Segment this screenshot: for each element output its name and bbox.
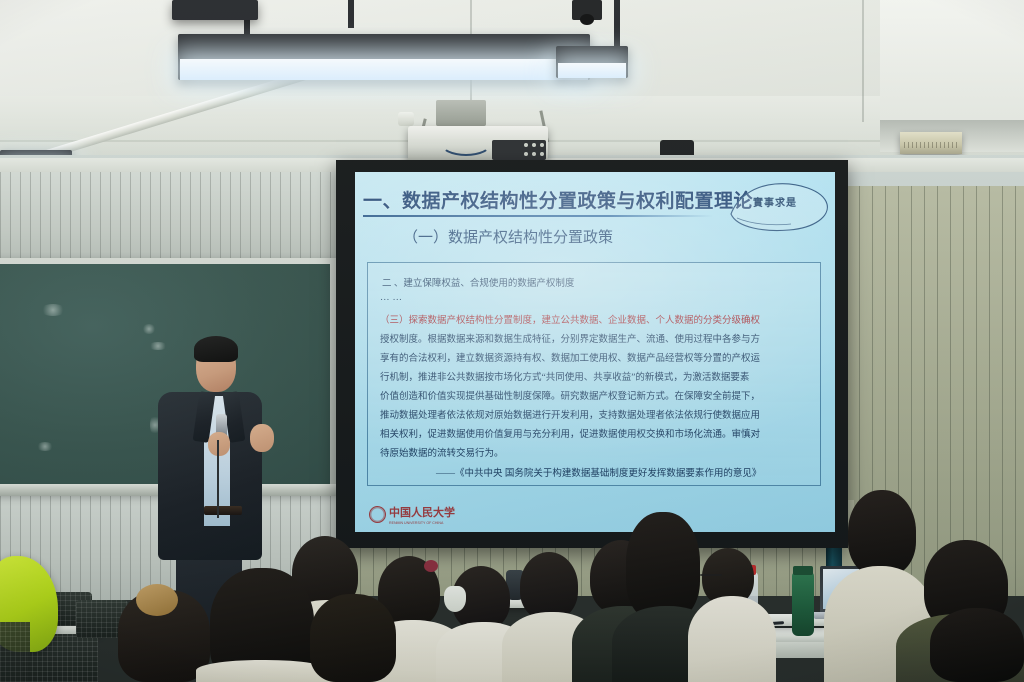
title-underline [363,215,713,217]
textbox-line: 行机制，推进非公共数据按市场化方式“共同使用、共享收益”的新模式，为激活数据要素 [380,369,749,383]
projector-indicator [524,143,528,147]
presenter-hand-left [208,432,230,456]
university-seal-icon [369,506,386,523]
presenter-hair [194,336,238,362]
chalk-smudge [148,342,168,350]
audience-head [310,594,396,682]
chalk-smudge [40,304,66,316]
microphone-cable [217,440,219,518]
bottle-cap-green [793,566,813,575]
chalk-smudge [36,442,54,451]
pipe-joint [398,112,414,126]
slide-textbox: 二 、建立保障权益、合规使用的数据产权制度 …… （三）探索数据产权结构性分置制… [367,262,821,486]
audience-head [930,608,1024,682]
textbox-line: 待原始数据的流转交易行为。 [380,445,504,459]
pendant-stem [614,0,620,48]
pendant-light [172,0,258,20]
face-mask [444,586,466,612]
pendant-stem [348,0,354,28]
hair-scrunchie [424,560,438,572]
lamp-diffuser [180,59,588,80]
textbox-line: 二 、建立保障权益、合规使用的数据产权制度 [382,275,574,289]
lecture-hall-photo: 一、数据产权结构性分置政策与权利配置理论 實事求是 （一）数据产权结构性分置政策… [0,0,1024,682]
projector-indicator [532,143,536,147]
slide-title: 一、数据产权结构性分置政策与权利配置理论 [363,186,753,213]
slide-citation: ——《中共中央 国务院关于构建数据基础制度更好发挥数据要素作用的意见》 [436,465,761,479]
slat-wall-panel [0,172,352,268]
textbox-line: 推动数据处理者依法依规对原始数据进行开发利用，支持数据处理者依法依规行使数据应用 [380,407,760,421]
presenter-hand-right [250,424,274,452]
projector-indicator [540,143,544,147]
presenter-belt [204,506,242,515]
textbox-line: 相关权利，促进数据使用价值复用与充分利用，促进数据使用权交换和市场化流通。审慎对 [380,426,760,440]
textbox-line-highlighted: （三）探索数据产权结构性分置制度，建立公共数据、企业数据、个人数据的分类分级确权 [380,312,760,326]
projector-cable [440,130,492,156]
audience-head [626,512,700,620]
desk-modesty-panel [0,622,30,682]
wall-speaker [900,132,962,154]
university-name-cn: 中国人民大学 [389,504,455,520]
pendant-light [178,34,590,80]
audience-shoulders [688,596,776,682]
eyeglasses [700,574,722,576]
camera-lens [580,14,594,25]
audience-head [848,490,916,576]
projector-indicator [532,152,536,156]
water-bottle-green [792,572,814,636]
lamp-diffuser [558,63,626,78]
textbox-line: …… [380,293,405,303]
university-logo: 中国人民大学 RENMIN UNIVERSITY OF CHINA [369,504,455,525]
textbox-line: 价值创造和价值实现提供基础性制度保障。研究数据产权登记新方式。在保障安全前提下， [380,388,760,402]
projector-indicator [524,152,528,156]
hair-bun [136,584,178,616]
audience-head [520,552,578,620]
textbox-line: 享有的合法权利，建立数据资源持有权、数据加工使用权、数据产品经营权等分置的产权运 [380,350,760,364]
pendant-light [556,46,628,78]
audience-shoulders [196,660,330,682]
projector-mount [436,100,486,126]
projector-ports-panel [492,140,546,160]
projector-indicator [540,152,544,156]
university-name-en: RENMIN UNIVERSITY OF CHINA [389,520,445,524]
textbox-line: 授权制度。根据数据来源和数据生成特征，分别界定数据生产、流通、使用过程中各参与方 [380,331,760,345]
chalk-smudge [142,324,156,334]
ceiling-seam [862,0,864,122]
projected-slide: 一、数据产权结构性分置政策与权利配置理论 實事求是 （一）数据产权结构性分置政策… [355,172,835,532]
slide-subtitle: （一）数据产权结构性分置政策 [403,226,613,247]
rock-calligraphy: 實事求是 [753,194,797,209]
